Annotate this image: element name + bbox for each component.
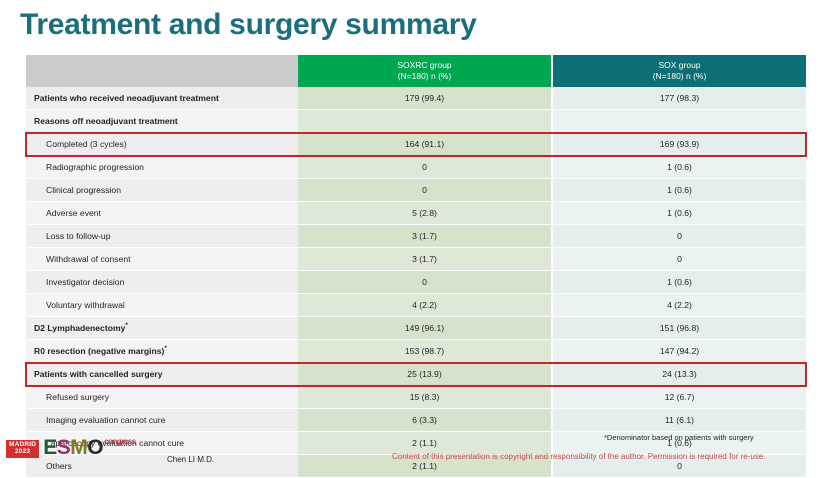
- table-row: Patients who received neoadjuvant treatm…: [26, 87, 806, 110]
- cell-soxrc: 3 (1.7): [298, 248, 552, 271]
- table-row: Adverse event5 (2.8)1 (0.6): [26, 202, 806, 225]
- table-row: Patients with cancelled surgery25 (13.9)…: [26, 363, 806, 386]
- esmo-letter-s: S: [57, 437, 71, 458]
- column-header-sox-label: SOX group: [553, 60, 806, 71]
- row-label: D2 Lymphadenectomy*: [26, 317, 298, 340]
- cell-soxrc: 0: [298, 179, 552, 202]
- madrid-2023-badge: MADRID 2023: [6, 440, 39, 458]
- row-label: Imaging evaluation cannot cure: [26, 409, 298, 432]
- esmo-letter-m: M: [70, 437, 87, 458]
- esmo-letter-e: E: [43, 437, 57, 458]
- cell-soxrc: 4 (2.2): [298, 294, 552, 317]
- cell-sox: 0: [552, 225, 806, 248]
- cell-soxrc: 0: [298, 271, 552, 294]
- table-row: Clinical progression01 (0.6): [26, 179, 806, 202]
- summary-table-container: SOXRC group (N=180) n (%) SOX group (N=1…: [26, 55, 806, 478]
- row-label: Refused surgery: [26, 386, 298, 409]
- cell-sox: 24 (13.3): [552, 363, 806, 386]
- cell-sox: 147 (94.2): [552, 340, 806, 363]
- table-footnote: *Denominator based on patients with surg…: [604, 433, 754, 442]
- cell-sox: 0: [552, 248, 806, 271]
- cell-soxrc: 3 (1.7): [298, 225, 552, 248]
- treatment-surgery-summary-table: SOXRC group (N=180) n (%) SOX group (N=1…: [26, 55, 806, 478]
- cell-sox: [552, 110, 806, 133]
- row-label: Withdrawal of consent: [26, 248, 298, 271]
- table-row: Reasons off neoadjuvant treatment: [26, 110, 806, 133]
- column-header-soxrc-sub: (N=180) n (%): [298, 71, 551, 82]
- copyright-notice: Content of this presentation is copyrigh…: [392, 452, 766, 461]
- cell-soxrc: 149 (96.1): [298, 317, 552, 340]
- cell-sox: 169 (93.9): [552, 133, 806, 156]
- table-row: Radiographic progression01 (0.6): [26, 156, 806, 179]
- row-label: Investigator decision: [26, 271, 298, 294]
- badge-year: 2023: [9, 449, 36, 456]
- table-row: Imaging evaluation cannot cure6 (3.3)11 …: [26, 409, 806, 432]
- table-row: Refused surgery15 (8.3)12 (6.7): [26, 386, 806, 409]
- row-label: Patients who received neoadjuvant treatm…: [26, 87, 298, 110]
- table-body: Patients who received neoadjuvant treatm…: [26, 87, 806, 478]
- cell-soxrc: 153 (98.7): [298, 340, 552, 363]
- column-header-soxrc: SOXRC group (N=180) n (%): [298, 55, 552, 87]
- table-row: Loss to follow-up3 (1.7)0: [26, 225, 806, 248]
- cell-sox: 1 (0.6): [552, 156, 806, 179]
- table-header-row: SOXRC group (N=180) n (%) SOX group (N=1…: [26, 55, 806, 87]
- cell-sox: 1 (0.6): [552, 271, 806, 294]
- congress-label: congress: [104, 438, 136, 446]
- column-header-sox-sub: (N=180) n (%): [553, 71, 806, 82]
- cell-sox: 1 (0.6): [552, 179, 806, 202]
- column-header-sox: SOX group (N=180) n (%): [552, 55, 806, 87]
- table-header: SOXRC group (N=180) n (%) SOX group (N=1…: [26, 55, 806, 87]
- footnote-marker: *: [164, 345, 167, 352]
- cell-soxrc: 6 (3.3): [298, 409, 552, 432]
- esmo-wordmark: E S M O congress: [43, 437, 135, 458]
- column-header-soxrc-label: SOXRC group: [298, 60, 551, 71]
- cell-soxrc: 0: [298, 156, 552, 179]
- table-row: Voluntary withdrawal4 (2.2)4 (2.2): [26, 294, 806, 317]
- cell-soxrc: 15 (8.3): [298, 386, 552, 409]
- cell-sox: 4 (2.2): [552, 294, 806, 317]
- row-label: Patients with cancelled surgery: [26, 363, 298, 386]
- cell-sox: 1 (0.6): [552, 202, 806, 225]
- esmo-letter-o: O: [87, 437, 103, 458]
- page-title: Treatment and surgery summary: [20, 8, 476, 42]
- cell-sox: 177 (98.3): [552, 87, 806, 110]
- row-label: Reasons off neoadjuvant treatment: [26, 110, 298, 133]
- row-label: Voluntary withdrawal: [26, 294, 298, 317]
- presenter-name: Chen LI M.D.: [167, 455, 214, 464]
- table-row: Completed (3 cycles)164 (91.1)169 (93.9): [26, 133, 806, 156]
- row-label: R0 resection (negative margins)*: [26, 340, 298, 363]
- row-label: Radiographic progression: [26, 156, 298, 179]
- cell-soxrc: 25 (13.9): [298, 363, 552, 386]
- row-label: Clinical progression: [26, 179, 298, 202]
- cell-sox: 11 (6.1): [552, 409, 806, 432]
- row-label: Loss to follow-up: [26, 225, 298, 248]
- cell-soxrc: [298, 110, 552, 133]
- cell-soxrc: 179 (99.4): [298, 87, 552, 110]
- table-row: R0 resection (negative margins)*153 (98.…: [26, 340, 806, 363]
- table-row: Investigator decision01 (0.6): [26, 271, 806, 294]
- table-row: Withdrawal of consent3 (1.7)0: [26, 248, 806, 271]
- cell-soxrc: 5 (2.8): [298, 202, 552, 225]
- footnote-marker: *: [125, 322, 128, 329]
- column-header-blank: [26, 55, 298, 87]
- row-label: Completed (3 cycles): [26, 133, 298, 156]
- cell-soxrc: 164 (91.1): [298, 133, 552, 156]
- table-row: D2 Lymphadenectomy*149 (96.1)151 (96.8): [26, 317, 806, 340]
- esmo-congress-logo: MADRID 2023 E S M O congress: [6, 437, 136, 461]
- cell-sox: 151 (96.8): [552, 317, 806, 340]
- cell-sox: 12 (6.7): [552, 386, 806, 409]
- row-label: Adverse event: [26, 202, 298, 225]
